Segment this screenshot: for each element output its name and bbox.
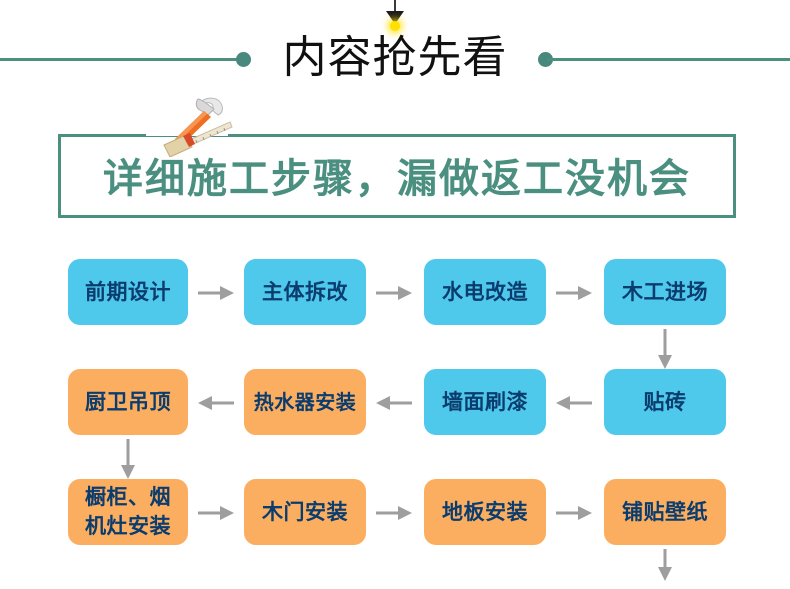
flow-node-r3c1-line1: 橱柜、烟	[85, 483, 171, 512]
flow-arrow-r3-1	[198, 503, 234, 523]
flow-node-r3c4[interactable]: 铺贴壁纸	[604, 479, 726, 545]
flow-arrow-r2-3	[556, 393, 592, 413]
flow-arrow-r2-1	[198, 393, 234, 413]
flow-arrow-r2-2	[376, 393, 412, 413]
flow-node-r1c1[interactable]: 前期设计	[68, 259, 188, 325]
flow-node-r2c2[interactable]: 热水器安装	[244, 369, 366, 435]
flow-arrow-down-bottom	[655, 549, 675, 589]
flow-node-r3c1-line2: 机灶安装	[85, 512, 171, 541]
flow-arrow-r1-2	[376, 283, 412, 303]
flow-arrow-down-right	[655, 329, 675, 369]
flow-arrow-down-left	[118, 439, 138, 479]
flow-node-r2c1[interactable]: 厨卫吊顶	[68, 369, 188, 435]
flow-node-r3c3[interactable]: 地板安装	[424, 479, 546, 545]
flow-node-r2c4[interactable]: 贴砖	[604, 369, 726, 435]
flow-arrow-r3-2	[376, 503, 412, 523]
flow-node-r3c1[interactable]: 橱柜、烟 机灶安装	[68, 479, 188, 545]
flow-arrow-r1-3	[556, 283, 592, 303]
flow-arrow-r3-3	[556, 503, 592, 523]
flow-node-r1c3[interactable]: 水电改造	[424, 259, 546, 325]
construction-flowchart: 前期设计 主体拆改 水电改造 木工进场 厨卫吊顶 热水器	[0, 0, 790, 576]
flow-arrow-r1-1	[198, 283, 234, 303]
flow-node-r3c2[interactable]: 木门安装	[244, 479, 366, 545]
flow-node-r2c3[interactable]: 墙面刷漆	[424, 369, 546, 435]
flow-node-r1c4[interactable]: 木工进场	[604, 259, 726, 325]
flow-node-r1c2[interactable]: 主体拆改	[244, 259, 366, 325]
